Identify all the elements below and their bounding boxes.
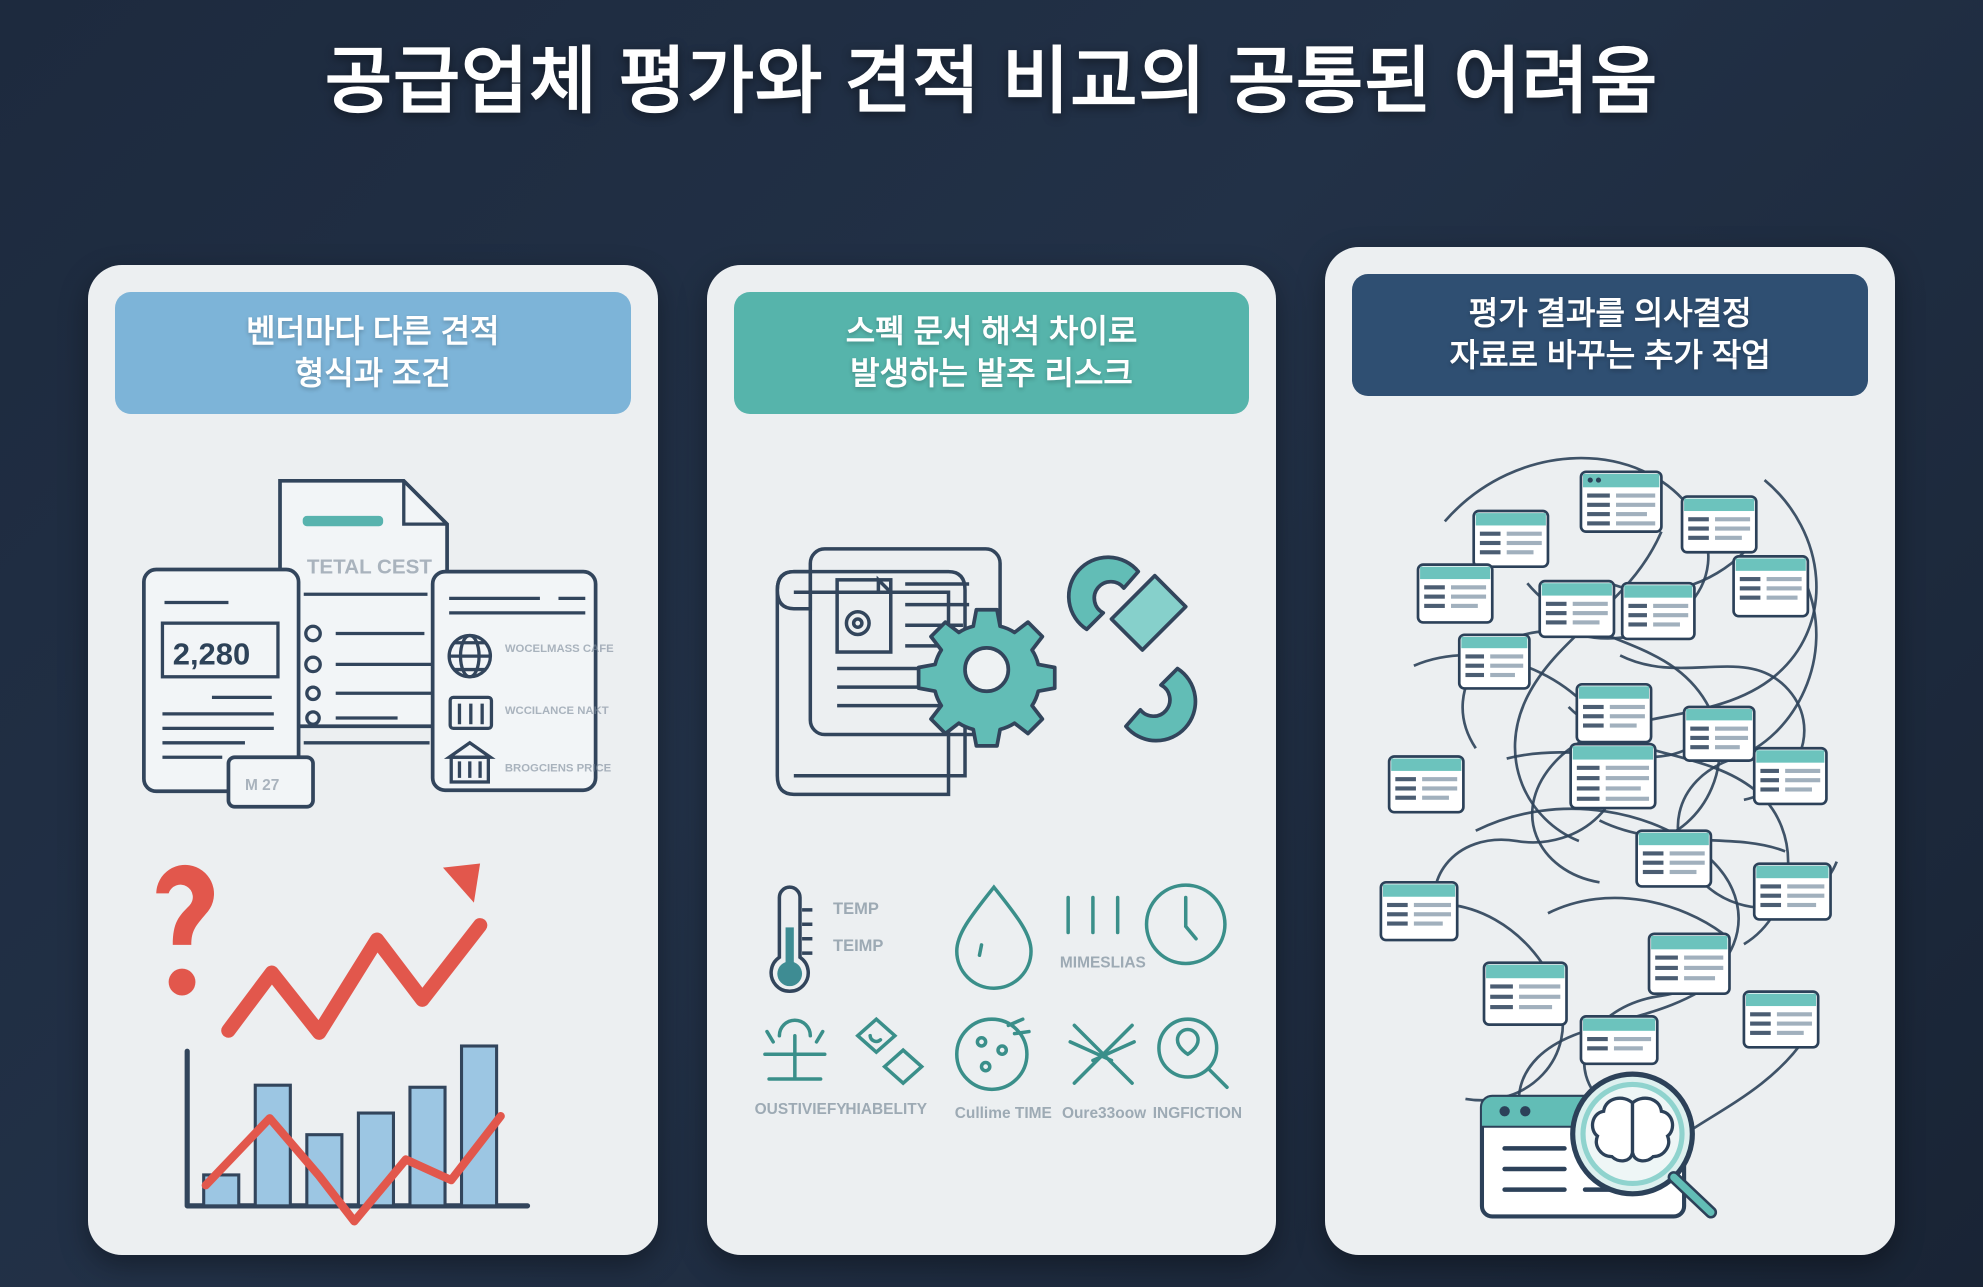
- list-item: [1682, 497, 1756, 553]
- list-item: [1684, 707, 1754, 761]
- measure-icon: [1068, 898, 1118, 933]
- icon-label-temp-2: TEIMP: [833, 938, 883, 956]
- inspect-icon: [1159, 1020, 1227, 1088]
- list-item: [1581, 472, 1661, 532]
- card-2-header: 스펙 문서 해석 차이로 발생하는 발주 리스크: [734, 292, 1250, 414]
- list-item: [1755, 864, 1831, 920]
- browser-with-brain-magnifier-icon: [1482, 1075, 1711, 1217]
- side-label-3: BROGCIENS PRICE: [505, 763, 612, 775]
- side-label-1: WOCELMASS CAFE: [505, 643, 614, 655]
- card-vendor-quote-format[interactable]: 벤더마다 다른 견적 형식과 조건 .ln { stroke:#32455c; …: [88, 265, 658, 1255]
- list-item: [1571, 745, 1656, 809]
- card-3-header-line1: 평가 결과를 의사결정: [1469, 295, 1752, 331]
- card-1-header: 벤더마다 다른 견적 형식과 조건: [115, 292, 631, 414]
- list-item: [1623, 584, 1695, 640]
- list-item: [1540, 582, 1614, 638]
- chain-link-icon: [1068, 558, 1195, 741]
- card-2-header-line1: 스펙 문서 해석 차이로: [846, 313, 1138, 349]
- list-item: [1755, 749, 1827, 805]
- list-item: [1418, 565, 1492, 623]
- tangled-document-network-svg: .wire { stroke:#2c4159; stroke-width:2.6…: [1352, 396, 1868, 1235]
- list-item: [1460, 635, 1530, 689]
- globe-icon: [449, 636, 490, 677]
- list-item: [1581, 1017, 1657, 1064]
- card-3-illustration: .wire { stroke:#2c4159; stroke-width:2.6…: [1352, 396, 1868, 1235]
- doc-title-text: TETAL CEST: [307, 556, 433, 579]
- card-2-illustration: .l { stroke:#32455c; stroke-width:3.4; f…: [734, 414, 1250, 1235]
- page-title: 공급업체 평가와 견적 비교의 공통된 어려움: [0, 40, 1983, 124]
- list-item: [1734, 557, 1808, 617]
- clock-icon: [1146, 886, 1224, 964]
- spec-document-gear-chain-svg: .l { stroke:#32455c; stroke-width:3.4; f…: [734, 414, 1250, 1235]
- list-item: [1389, 757, 1463, 813]
- question-mark-icon: [156, 865, 214, 996]
- icon-label-overflow: Oure33oow: [1062, 1106, 1147, 1123]
- card-3-header: 평가 결과를 의사결정 자료로 바꾸는 추가 작업: [1352, 274, 1868, 396]
- droplet-icon: [956, 888, 1030, 989]
- card-1-header-line1: 벤더마다 다른 견적: [246, 313, 499, 349]
- card-1-header-line2: 형식과 조건: [125, 352, 621, 394]
- icon-label-reliability: HIABELITY: [845, 1102, 927, 1119]
- list-item: [1577, 685, 1651, 743]
- card-spec-interpretation-risk[interactable]: 스펙 문서 해석 차이로 발생하는 발주 리스크 .l { stroke:#32…: [707, 265, 1277, 1255]
- small-tag-text: M 27: [245, 778, 279, 795]
- icon-label-measure: MIMESLIAS: [1060, 955, 1146, 972]
- mold-icon: [956, 1020, 1028, 1090]
- card-3-header-line2: 자료로 바꾸는 추가 작업: [1362, 334, 1858, 376]
- card-decision-material-extra-work[interactable]: 평가 결과를 의사결정 자료로 바꾸는 추가 작업 .wire { stroke…: [1325, 247, 1895, 1255]
- icon-label-temp-1: TEMP: [833, 900, 879, 918]
- card-2-header-line2: 발생하는 발주 리스크: [744, 352, 1240, 394]
- spec-icons-panel: WOCELMASS CAFE WCCILANCE NAKT BROGCIENS …: [433, 572, 615, 791]
- side-label-2: WCCILANCE NAKT: [505, 705, 609, 717]
- amount-text: 2,280: [173, 637, 250, 672]
- list-item: [1637, 831, 1711, 887]
- card-grid: 벤더마다 다른 견적 형식과 조건 .ln { stroke:#32455c; …: [88, 265, 1895, 1255]
- list-item: [1649, 934, 1729, 994]
- icon-label-inspection: INGFICTION: [1152, 1106, 1241, 1123]
- scissors-icon: [1070, 1026, 1134, 1084]
- list-item: [1474, 511, 1548, 567]
- list-item: [1381, 883, 1457, 941]
- trend-arrow-icon: [228, 864, 480, 1033]
- quote-documents-and-chart-svg: .ln { stroke:#32455c; stroke-width:3.2; …: [115, 414, 631, 1235]
- bar-chart: [187, 1046, 527, 1221]
- gear-icon: [918, 610, 1054, 746]
- diamond-icon: [857, 1020, 921, 1084]
- scale-icon: [765, 1021, 825, 1080]
- icon-label-durability: OUSTIVIEFY: [754, 1102, 847, 1119]
- icon-label-curing-time: Cullime TIME: [954, 1106, 1051, 1123]
- thermometer-icon: [771, 888, 812, 992]
- network-document-nodes: [1381, 472, 1831, 1064]
- amount-panel: 2,280 M 27: [144, 570, 313, 807]
- card-1-illustration: .ln { stroke:#32455c; stroke-width:3.2; …: [115, 414, 631, 1235]
- total-cost-document: TETAL CEST: [280, 481, 447, 743]
- list-item: [1484, 963, 1567, 1025]
- list-item: [1744, 992, 1818, 1048]
